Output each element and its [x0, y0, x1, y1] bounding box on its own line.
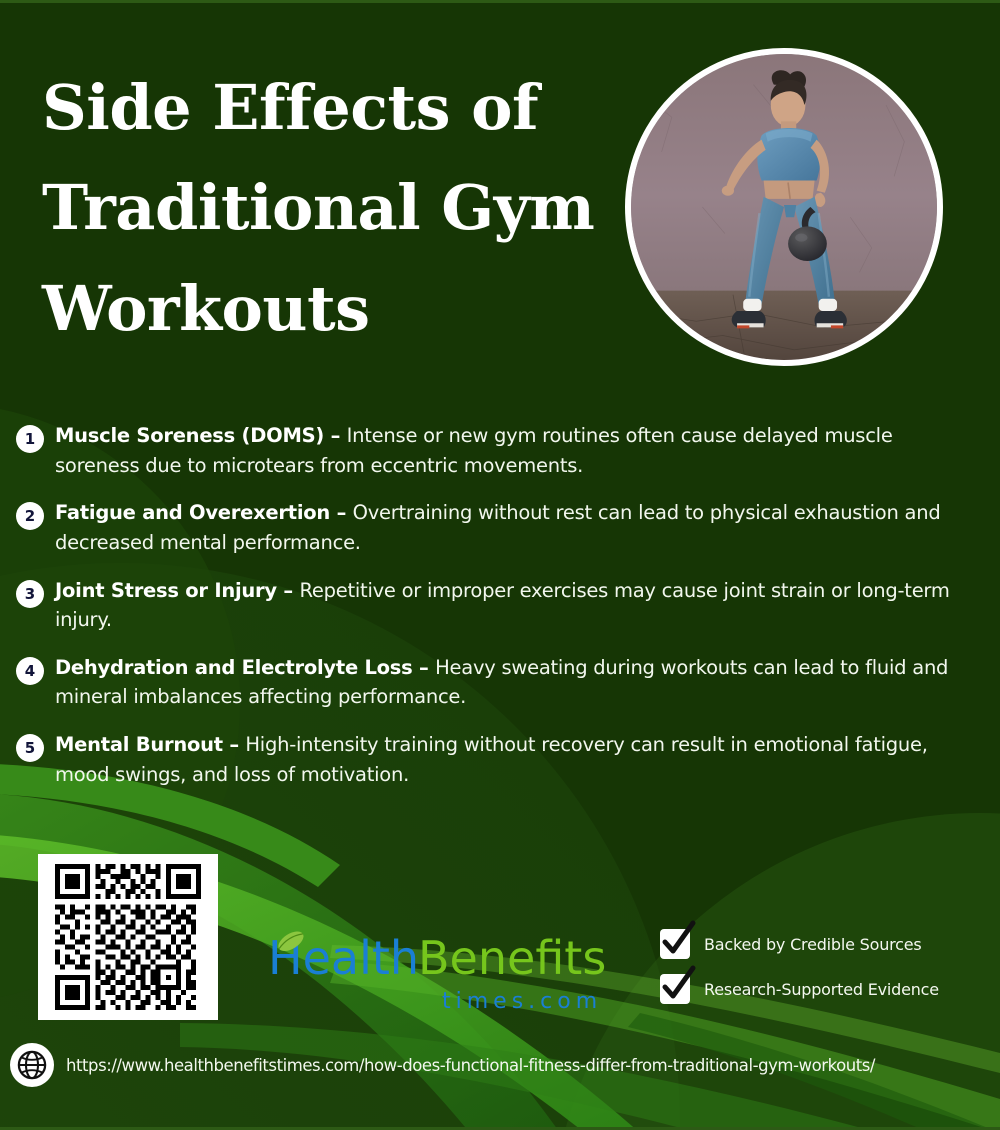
- list-item-number-badge: 1: [16, 425, 44, 453]
- checkmark-icon: [660, 974, 690, 1004]
- list-item-dash: –: [277, 579, 300, 602]
- trust-badge-row: Backed by Credible Sources: [660, 927, 970, 961]
- hero-image-frame: [625, 48, 943, 366]
- trust-badge-label: Research-Supported Evidence: [704, 980, 939, 999]
- logo-subtitle: times.com: [442, 989, 602, 1014]
- list-item-text: Dehydration and Electrolyte Loss – Heavy…: [55, 653, 974, 712]
- list-item-text: Joint Stress or Injury – Repetitive or i…: [55, 576, 974, 635]
- list-item-heading: Dehydration and Electrolyte Loss: [55, 656, 413, 679]
- list-item-dash: –: [324, 424, 347, 447]
- list-item-text: Muscle Soreness (DOMS) – Intense or new …: [55, 421, 974, 480]
- list-item: 2 Fatigue and Overexertion – Overtrainin…: [0, 498, 1000, 557]
- trust-badge-label: Backed by Credible Sources: [704, 935, 922, 954]
- list-item-number-badge: 2: [16, 502, 44, 530]
- header: Side Effects of Traditional Gym Workouts: [0, 3, 1000, 398]
- article-url[interactable]: https://www.healthbenefitstimes.com/how-…: [66, 1056, 875, 1075]
- list-item-heading: Mental Burnout: [55, 733, 223, 756]
- list-item: 5 Mental Burnout – High-intensity traini…: [0, 730, 1000, 789]
- infographic-poster: Side Effects of Traditional Gym Workouts: [0, 0, 1000, 1130]
- list-item-text: Mental Burnout – High-intensity training…: [55, 730, 974, 789]
- page-title: Side Effects of Traditional Gym Workouts: [42, 58, 632, 359]
- list-item-heading: Joint Stress or Injury: [55, 579, 277, 602]
- list-item-heading: Muscle Soreness (DOMS): [55, 424, 324, 447]
- healthbenefitstimes-logo[interactable]: Health Benefits times.com: [266, 928, 636, 1016]
- globe-icon: [10, 1043, 54, 1087]
- list-item: 1 Muscle Soreness (DOMS) – Intense or ne…: [0, 421, 1000, 480]
- logo-part-two: Benefits: [418, 931, 606, 985]
- list-item: 4 Dehydration and Electrolyte Loss – Hea…: [0, 653, 1000, 712]
- list-item-number-badge: 3: [16, 580, 44, 608]
- list-item-dash: –: [330, 501, 353, 524]
- list-item-heading: Fatigue and Overexertion: [55, 501, 330, 524]
- trust-badge-row: Research-Supported Evidence: [660, 972, 970, 1006]
- list-item-dash: –: [413, 656, 436, 679]
- list-item-dash: –: [223, 733, 246, 756]
- footer-url-bar[interactable]: https://www.healthbenefitstimes.com/how-…: [10, 1043, 875, 1087]
- checkmark-icon: [660, 929, 690, 959]
- list-item-number-badge: 5: [16, 734, 44, 762]
- woman-kettlebell-swing-photo: [631, 54, 937, 360]
- list-item-text: Fatigue and Overexertion – Overtraining …: [55, 498, 974, 557]
- list-item: 3 Joint Stress or Injury – Repetitive or…: [0, 576, 1000, 635]
- list-item-number-badge: 4: [16, 657, 44, 685]
- trust-badges: Backed by Credible Sources Research-Supp…: [660, 927, 970, 1017]
- qr-code[interactable]: [38, 854, 218, 1020]
- side-effects-list: 1 Muscle Soreness (DOMS) – Intense or ne…: [0, 421, 1000, 807]
